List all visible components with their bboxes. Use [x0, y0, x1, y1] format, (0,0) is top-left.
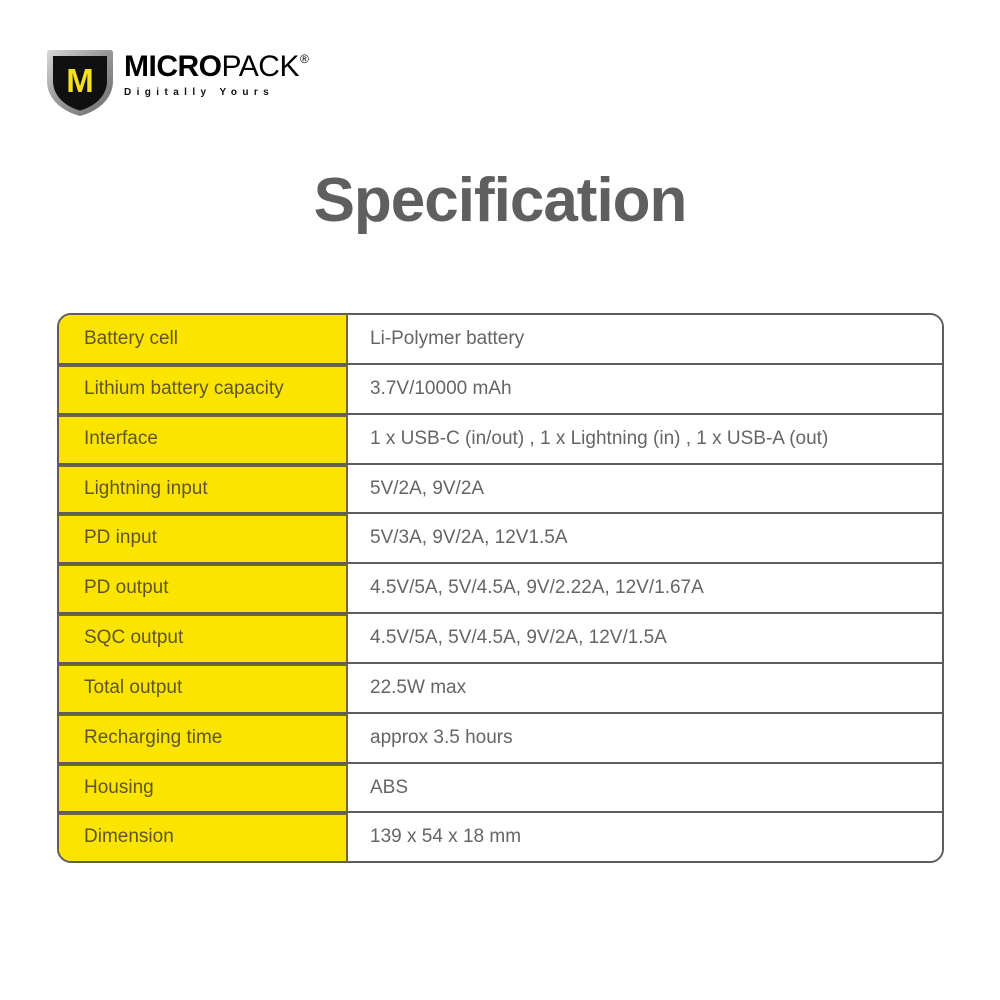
table-row: Lithium battery capacity3.7V/10000 mAh	[59, 363, 942, 413]
table-row: Lightning input5V/2A, 9V/2A	[59, 463, 942, 513]
spec-value-cell: 139 x 54 x 18 mm	[348, 813, 942, 861]
brand-tagline: Digitally Yours	[124, 87, 309, 98]
spec-label-cell: PD input	[59, 514, 348, 562]
spec-label-cell: PD output	[59, 564, 348, 612]
brand-name: MICRO PACK ®	[124, 52, 309, 82]
spec-value-cell: approx 3.5 hours	[348, 714, 942, 762]
micropack-shield-icon: M	[44, 48, 116, 118]
spec-label-cell: SQC output	[59, 614, 348, 662]
spec-value-cell: 4.5V/5A, 5V/4.5A, 9V/2.22A, 12V/1.67A	[348, 564, 942, 612]
spec-value-cell: 4.5V/5A, 5V/4.5A, 9V/2A, 12V/1.5A	[348, 614, 942, 662]
brand-name-light: PACK	[222, 52, 299, 82]
registered-trademark-icon: ®	[300, 53, 309, 65]
svg-text:M: M	[66, 62, 94, 99]
table-row: Dimension139 x 54 x 18 mm	[59, 811, 942, 861]
specification-table: Battery cellLi-Polymer batteryLithium ba…	[57, 313, 944, 863]
table-row: Recharging timeapprox 3.5 hours	[59, 712, 942, 762]
spec-label-cell: Housing	[59, 764, 348, 812]
brand-logo: M MICRO PACK ® Digitally Yours	[44, 48, 309, 118]
spec-value-cell: 5V/2A, 9V/2A	[348, 465, 942, 513]
spec-value-cell: ABS	[348, 764, 942, 812]
brand-wordmark: MICRO PACK ® Digitally Yours	[124, 48, 309, 98]
table-row: PD input5V/3A, 9V/2A, 12V1.5A	[59, 512, 942, 562]
table-row: Interface1 x USB-C (in/out) , 1 x Lightn…	[59, 413, 942, 463]
spec-label-cell: Recharging time	[59, 714, 348, 762]
spec-value-cell: 1 x USB-C (in/out) , 1 x Lightning (in) …	[348, 415, 942, 463]
spec-label-cell: Total output	[59, 664, 348, 712]
spec-label-cell: Lightning input	[59, 465, 348, 513]
spec-value-cell: 22.5W max	[348, 664, 942, 712]
table-row: Battery cellLi-Polymer battery	[59, 315, 942, 363]
spec-label-cell: Lithium battery capacity	[59, 365, 348, 413]
table-row: Total output22.5W max	[59, 662, 942, 712]
table-row: SQC output4.5V/5A, 5V/4.5A, 9V/2A, 12V/1…	[59, 612, 942, 662]
spec-label-cell: Interface	[59, 415, 348, 463]
table-row: HousingABS	[59, 762, 942, 812]
spec-value-cell: Li-Polymer battery	[348, 315, 942, 363]
table-row: PD output4.5V/5A, 5V/4.5A, 9V/2.22A, 12V…	[59, 562, 942, 612]
spec-value-cell: 5V/3A, 9V/2A, 12V1.5A	[348, 514, 942, 562]
spec-label-cell: Battery cell	[59, 315, 348, 363]
brand-name-bold: MICRO	[124, 52, 222, 82]
spec-label-cell: Dimension	[59, 813, 348, 861]
page-title: Specification	[0, 170, 1000, 232]
spec-value-cell: 3.7V/10000 mAh	[348, 365, 942, 413]
